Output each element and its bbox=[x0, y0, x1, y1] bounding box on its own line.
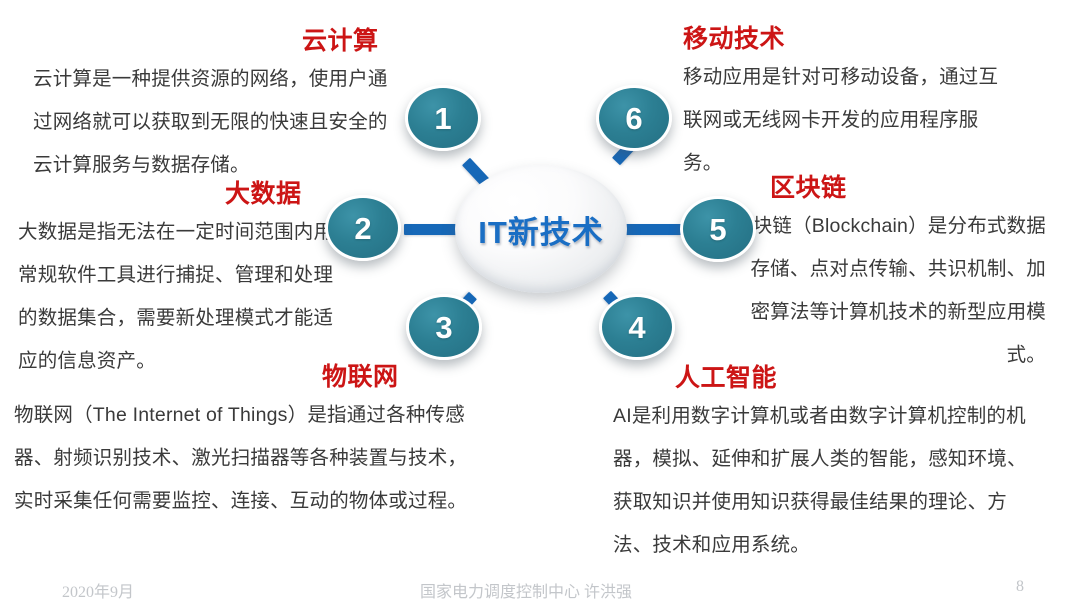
section-body-iot: 物联网（The Internet of Things）是指通过各种传感器、射频识… bbox=[14, 394, 479, 523]
section-body-ai: AI是利用数字计算机或者由数字计算机控制的机器，模拟、延伸和扩展人类的智能，感知… bbox=[613, 395, 1029, 567]
node-bubble-4[interactable]: 4 bbox=[599, 294, 675, 360]
spoke-to-node-5 bbox=[623, 224, 681, 235]
node-number-3: 3 bbox=[435, 312, 452, 343]
section-heading-bigdata: 大数据 bbox=[225, 180, 302, 208]
section-body-blockchain: 区块链（Blockchain）是分布式数据存储、点对点传输、共识机制、加密算法等… bbox=[733, 205, 1046, 377]
node-bubble-2[interactable]: 2 bbox=[325, 195, 401, 261]
node-bubble-6[interactable]: 6 bbox=[596, 85, 672, 151]
section-heading-ai: 人工智能 bbox=[675, 364, 777, 392]
center-hub-label: IT新技术 bbox=[478, 207, 604, 252]
footer-date: 2020年9月 bbox=[62, 578, 134, 602]
node-number-4: 4 bbox=[628, 312, 645, 343]
slide-canvas: 云计算 云计算是一种提供资源的网络，使用户通过网络就可以获取到无限的快速且安全的… bbox=[0, 0, 1080, 608]
section-body-cloud: 云计算是一种提供资源的网络，使用户通过网络就可以获取到无限的快速且安全的云计算服… bbox=[33, 58, 403, 187]
node-number-5: 5 bbox=[709, 214, 726, 245]
node-number-1: 1 bbox=[434, 103, 451, 134]
section-body-mobile: 移动应用是针对可移动设备，通过互联网或无线网卡开发的应用程序服务。 bbox=[683, 56, 1013, 185]
footer-page-number: 8 bbox=[1016, 578, 1024, 596]
center-hub[interactable]: IT新技术 bbox=[455, 165, 627, 293]
footer-organization: 国家电力调度控制中心 许洪强 bbox=[420, 578, 632, 602]
node-number-6: 6 bbox=[625, 103, 642, 134]
node-number-2: 2 bbox=[354, 213, 371, 244]
section-heading-cloud: 云计算 bbox=[302, 27, 379, 55]
spoke-to-node-2 bbox=[404, 224, 460, 235]
section-heading-blockchain: 区块链 bbox=[770, 174, 847, 202]
node-bubble-5[interactable]: 5 bbox=[680, 196, 756, 262]
section-heading-iot: 物联网 bbox=[322, 363, 399, 391]
node-bubble-1[interactable]: 1 bbox=[405, 85, 481, 151]
slide-footer: 2020年9月 国家电力调度控制中心 许洪强 8 bbox=[0, 568, 1080, 608]
node-bubble-3[interactable]: 3 bbox=[406, 294, 482, 360]
section-body-bigdata: 大数据是指无法在一定时间范围内用常规软件工具进行捕捉、管理和处理的数据集合，需要… bbox=[18, 211, 348, 383]
section-heading-mobile: 移动技术 bbox=[683, 25, 785, 53]
